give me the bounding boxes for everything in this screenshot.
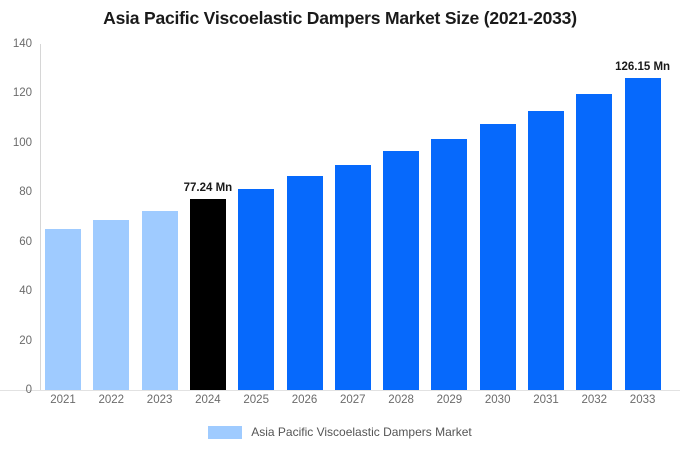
bar-rect — [93, 220, 129, 390]
bar-rect — [45, 229, 81, 390]
bar-rect — [238, 189, 274, 390]
bar-rect — [431, 139, 467, 390]
bar-2027[interactable] — [335, 165, 371, 390]
x-axis-tick-label: 2028 — [383, 394, 419, 406]
bar-rect — [576, 94, 612, 390]
legend-label: Asia Pacific Viscoelastic Dampers Market — [251, 425, 472, 439]
x-axis-tick-label: 2023 — [142, 394, 178, 406]
bars-layer: 20212022202377.24 Mn20242025202620272028… — [0, 0, 680, 450]
bar-rect — [625, 78, 661, 390]
bar-rect — [528, 111, 564, 390]
x-axis-tick-label: 2033 — [625, 394, 661, 406]
bar-2032[interactable] — [576, 94, 612, 390]
chart-legend: Asia Pacific Viscoelastic Dampers Market — [0, 425, 680, 439]
x-axis-tick-label: 2021 — [45, 394, 81, 406]
bar-2028[interactable] — [383, 151, 419, 390]
x-axis-tick-label: 2032 — [576, 394, 612, 406]
x-axis-tick-label: 2025 — [238, 394, 274, 406]
x-axis-tick-label: 2027 — [335, 394, 371, 406]
bar-rect — [287, 176, 323, 390]
legend-item[interactable]: Asia Pacific Viscoelastic Dampers Market — [208, 425, 472, 439]
bar-2033[interactable]: 126.15 Mn — [625, 78, 661, 390]
legend-swatch-icon — [208, 426, 242, 439]
x-axis-tick-label: 2024 — [190, 394, 226, 406]
bar-rect — [383, 151, 419, 390]
bar-2023[interactable] — [142, 211, 178, 390]
bar-2030[interactable] — [480, 124, 516, 390]
bar-2025[interactable] — [238, 189, 274, 390]
x-axis-tick-label: 2022 — [93, 394, 129, 406]
bar-2029[interactable] — [431, 139, 467, 390]
bar-2031[interactable] — [528, 111, 564, 390]
bar-value-label: 77.24 Mn — [184, 182, 233, 194]
bar-rect — [142, 211, 178, 390]
bar-rect — [190, 199, 226, 390]
bar-2021[interactable] — [45, 229, 81, 390]
x-axis-tick-label: 2030 — [480, 394, 516, 406]
bar-rect — [480, 124, 516, 390]
bar-value-label: 126.15 Mn — [615, 61, 670, 73]
x-axis-tick-label: 2031 — [528, 394, 564, 406]
bar-2024[interactable]: 77.24 Mn — [190, 199, 226, 390]
x-axis-tick-label: 2026 — [287, 394, 323, 406]
bar-2022[interactable] — [93, 220, 129, 390]
x-axis-tick-label: 2029 — [431, 394, 467, 406]
chart-container: Asia Pacific Viscoelastic Dampers Market… — [0, 0, 680, 450]
bar-2026[interactable] — [287, 176, 323, 390]
bar-rect — [335, 165, 371, 390]
